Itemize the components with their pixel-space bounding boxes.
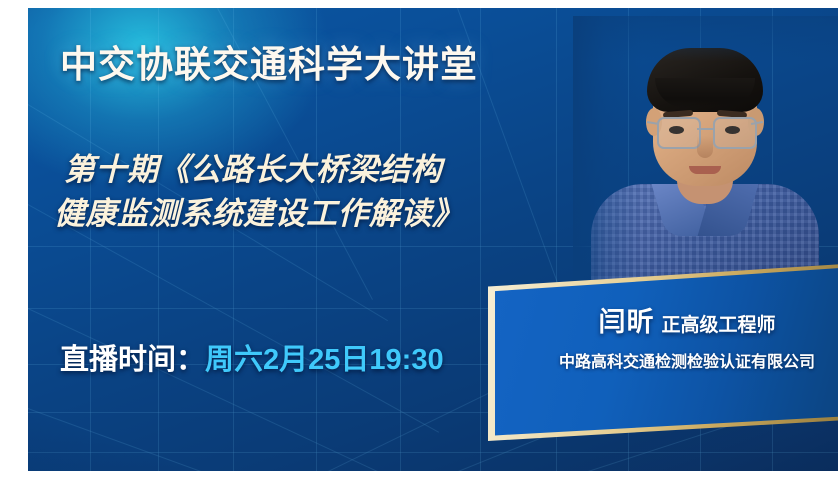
- subtitle-line-1: 第十期《公路长大桥梁结构: [64, 152, 442, 187]
- speaker-panel: 闫昕正高级工程师 中路高科交通检测检验认证有限公司: [488, 256, 838, 441]
- speaker-role: 正高级工程师: [661, 315, 775, 336]
- page-title: 中交协联交通科学大讲堂: [60, 34, 478, 88]
- speaker-identity: 闫昕正高级工程师: [518, 300, 838, 339]
- broadcast-time: 直播时间：周六2月25日19:30: [60, 336, 444, 378]
- speaker-name: 闫昕: [598, 307, 654, 337]
- broadcast-time-label: 直播时间：: [60, 344, 205, 376]
- broadcast-time-value: 周六2月25日19:30: [205, 344, 444, 376]
- speaker-panel-content: 闫昕正高级工程师 中路高科交通检测检验认证有限公司: [518, 300, 838, 372]
- subtitle-line-2: 健康监测系统建设工作解读》: [64, 192, 584, 236]
- poster-canvas: 中交协联交通科学大讲堂 第十期《公路长大桥梁结构 健康监测系统建设工作解读》 直…: [0, 0, 840, 480]
- speaker-organization: 中路高科交通检测检验认证有限公司: [518, 348, 838, 372]
- lecture-subtitle: 第十期《公路长大桥梁结构 健康监测系统建设工作解读》: [64, 148, 584, 236]
- poster-background: 中交协联交通科学大讲堂 第十期《公路长大桥梁结构 健康监测系统建设工作解读》 直…: [28, 8, 838, 471]
